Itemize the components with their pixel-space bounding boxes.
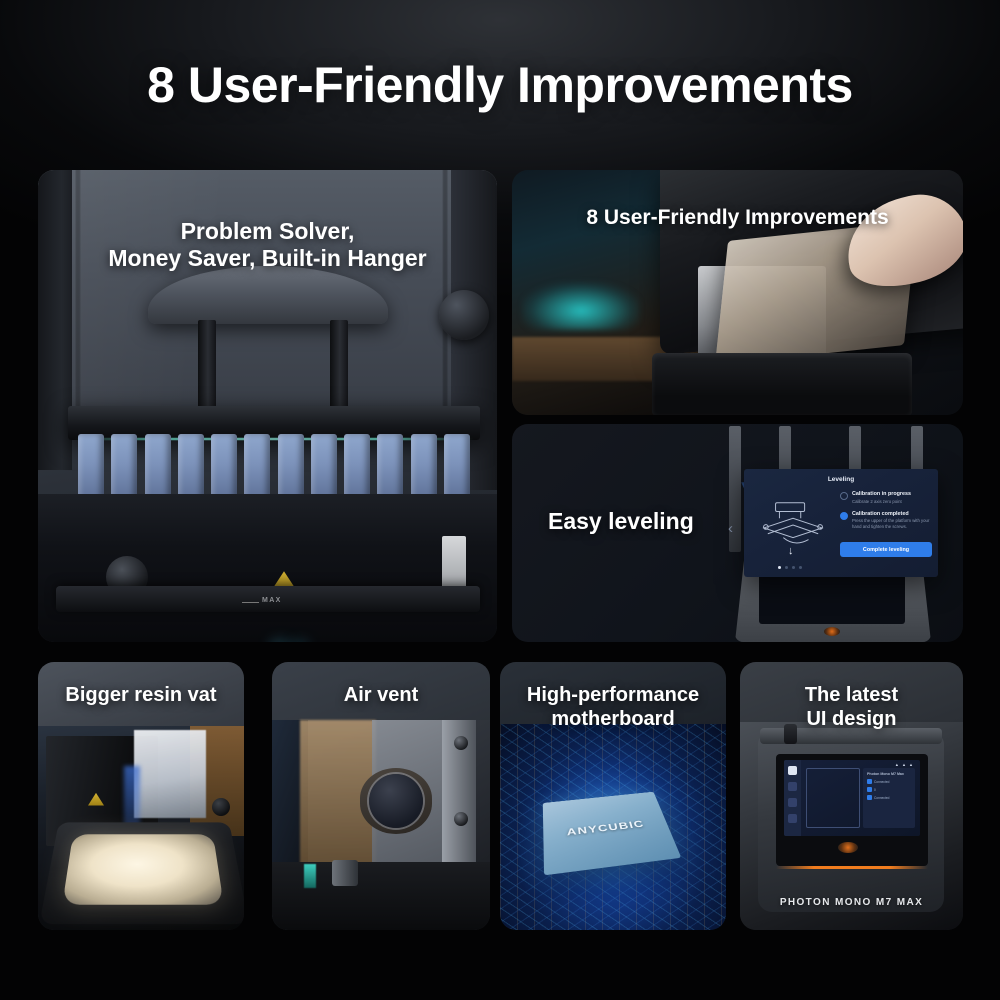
poster-root: 8 User-Friendly Improvements MAX 5° Prob…	[0, 0, 1000, 1000]
leveling-step[interactable]: Calibration in progress Calibrate 2 axis…	[840, 491, 932, 505]
panel-bigger-resin-vat[interactable]: Bigger resin vat	[38, 662, 244, 930]
panel-ui-caption-line2: UI design	[740, 708, 963, 732]
panel-air-vent[interactable]: Air vent	[272, 662, 490, 930]
leveling-step[interactable]: Calibration completed Press the upper of…	[840, 511, 932, 530]
ui-info-row-label: Connected	[874, 796, 889, 800]
ui-info-card: Photon Mono M7 Max Connected 0 Connected	[863, 768, 915, 828]
lit-back-panel	[134, 730, 206, 818]
panel-built-in-hanger[interactable]: MAX 5° Problem Solver, Money Saver, Buil…	[38, 170, 497, 642]
panel-easy-leveling[interactable]: Easy leveling ‹ Leveling	[512, 424, 963, 642]
power-button-icon[interactable]	[824, 627, 840, 636]
tilt-angle-label: 5°	[270, 635, 308, 642]
panel-vent-caption: Air vent	[272, 684, 490, 708]
panel-hanger-caption: Problem Solver, Money Saver, Built-in Ha…	[38, 218, 497, 272]
step-desc: Press the upper of the platform with you…	[852, 518, 932, 530]
pager-dots[interactable]	[778, 566, 802, 569]
ui-info-row-label: Connected	[874, 780, 889, 784]
panel-vat-caption: Bigger resin vat	[38, 684, 244, 708]
row-dot-icon	[867, 779, 872, 784]
panel-ui-caption-line1: The latest	[740, 684, 963, 708]
chip-label: ANYCUBIC	[543, 816, 668, 841]
printer-white-post	[442, 536, 466, 590]
air-vent-fan-icon	[360, 768, 432, 834]
printer-model-label: PHOTON MONO M7 MAX	[740, 897, 963, 908]
screw-icon	[454, 812, 468, 826]
panel-ui-caption: The latest UI design	[740, 684, 963, 731]
sidebar-icon-home[interactable]	[788, 766, 797, 775]
panel-motherboard-caption-line1: High-performance	[500, 684, 726, 708]
step-label: Calibration completed	[852, 511, 932, 518]
row-dot-icon	[867, 787, 872, 792]
panel-motherboard-caption-line2: motherboard	[500, 708, 726, 732]
step-bullet-icon	[840, 492, 848, 500]
panel-user-friendly-improvements[interactable]: 8 User-Friendly Improvements	[512, 170, 963, 415]
teal-accent-light	[304, 864, 316, 888]
vat-thumb-screw	[212, 798, 230, 816]
printer-preview-box	[806, 768, 860, 828]
printer-rail-left	[198, 320, 216, 416]
step-label: Calibration in progress	[852, 491, 911, 498]
leveling-dialog[interactable]: Leveling ↓ Calibration in progre	[744, 469, 938, 577]
down-arrow-icon: ↓	[788, 546, 794, 557]
step-desc: Calibrate 2 axis zero point	[852, 499, 911, 505]
panel-hanger-caption-line1: Problem Solver,	[38, 218, 497, 245]
ui-info-row-label: 0	[874, 788, 876, 792]
printer-knob	[439, 290, 489, 340]
vat-max-line-label: MAX	[262, 597, 282, 604]
leveling-dialog-title: Leveling	[744, 476, 938, 483]
leveling-steps-list: Calibration in progress Calibrate 2 axis…	[840, 491, 932, 536]
power-button-icon[interactable]	[838, 842, 858, 853]
resin-pool	[62, 834, 224, 904]
sidebar-icon-settings[interactable]	[788, 814, 797, 823]
complete-leveling-button[interactable]: Complete leveling	[840, 542, 932, 557]
panel-latest-ui-design[interactable]: ▲ ▲ ▲ Photon Mono M7 Max Connected 0 Con…	[740, 662, 963, 930]
orange-accent-stripe	[776, 866, 928, 869]
printer-rail-right	[330, 320, 348, 416]
status-icons: ▲ ▲ ▲	[895, 762, 914, 767]
panel-lid-caption: 8 User-Friendly Improvements	[512, 206, 963, 231]
printer-left-column	[38, 170, 72, 470]
ui-info-row: Connected	[867, 779, 911, 784]
row-dot-icon	[867, 795, 872, 800]
sidebar-icon-print[interactable]	[788, 782, 797, 791]
printer-ui-screen[interactable]: ▲ ▲ ▲ Photon Mono M7 Max Connected 0 Con…	[784, 760, 920, 836]
ui-info-row: 0	[867, 787, 911, 792]
step-bullet-icon	[840, 512, 848, 520]
page-title: 8 User-Friendly Improvements	[0, 56, 1000, 114]
ui-info-row: Connected	[867, 795, 911, 800]
screw-icon	[454, 736, 468, 750]
panel-hanger-caption-line2: Money Saver, Built-in Hanger	[38, 245, 497, 272]
panel-high-performance-motherboard[interactable]: ANYCUBIC High-performance motherboard	[500, 662, 726, 930]
teal-ambient-light	[522, 282, 640, 330]
ui-sidebar[interactable]	[784, 760, 801, 836]
prev-chevron-icon[interactable]: ‹	[728, 520, 733, 537]
sidebar-icon-files[interactable]	[788, 798, 797, 807]
resin-vat-tray	[652, 353, 912, 415]
ui-info-header: Photon Mono M7 Max	[867, 772, 911, 776]
panel-leveling-caption: Easy leveling	[548, 508, 694, 535]
panel-motherboard-caption: High-performance motherboard	[500, 684, 726, 731]
metal-cylinder	[332, 860, 358, 886]
